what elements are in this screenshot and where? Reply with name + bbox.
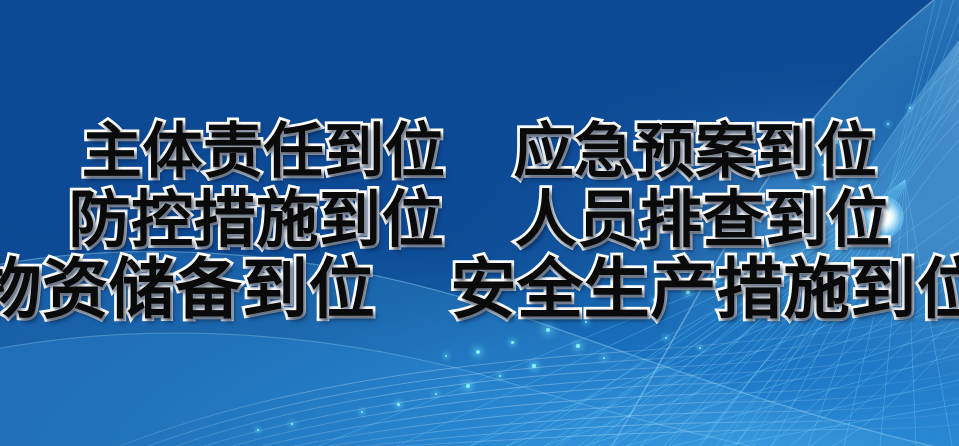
slogan-line-2: 防控措施到位 人员排查到位 bbox=[69, 188, 891, 252]
slogan-line-1-right: 应急预案到位 bbox=[514, 117, 878, 187]
slogan-line-3-left: 物资储备到位 bbox=[0, 251, 375, 328]
slogan-text-block: 主体责任到位 应急预案到位 防控措施到位 人员排查到位 物资储备到位 安全生产措… bbox=[0, 0, 959, 446]
slogan-line-2-right: 人员排查到位 bbox=[515, 183, 891, 256]
slogan-line-2-left: 防控措施到位 bbox=[69, 183, 445, 256]
slogan-line-3: 物资储备到位 安全生产措施到位 bbox=[0, 256, 959, 325]
slogan-line-1-left: 主体责任到位 bbox=[82, 117, 446, 187]
slogan-banner: 主体责任到位 应急预案到位 防控措施到位 人员排查到位 物资储备到位 安全生产措… bbox=[0, 0, 959, 446]
slogan-line-1: 主体责任到位 应急预案到位 bbox=[82, 121, 877, 183]
slogan-line-3-right: 安全生产措施到位 bbox=[450, 251, 959, 328]
